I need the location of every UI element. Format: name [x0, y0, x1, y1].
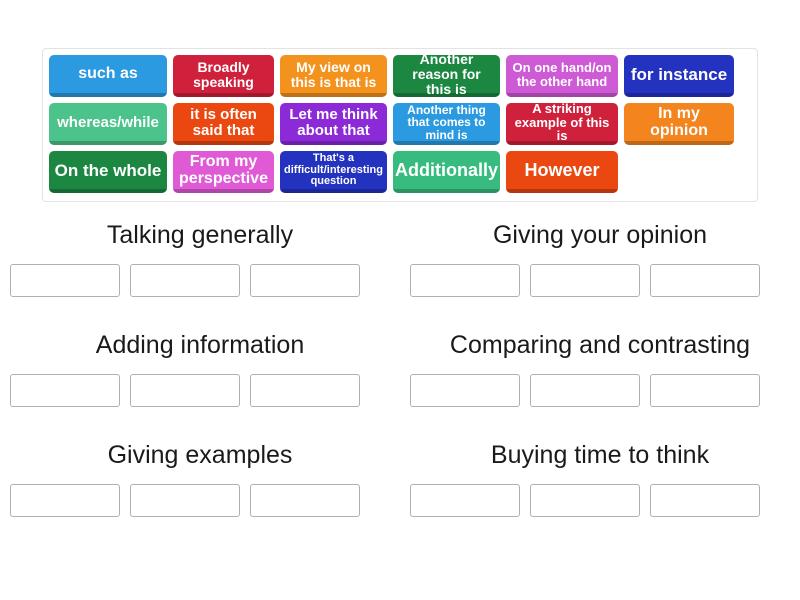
tile-label: That's a difficult/interesting question	[284, 153, 383, 188]
drop-slot[interactable]	[410, 264, 520, 297]
tile-label: On the whole	[55, 162, 162, 180]
draggable-tile[interactable]: Let me think about that	[280, 103, 387, 145]
category-slot-list	[10, 264, 390, 297]
drop-slot[interactable]	[530, 374, 640, 407]
tile-label: whereas/while	[57, 115, 159, 131]
category-title: Buying time to think	[410, 442, 790, 470]
category-group: Comparing and contrasting	[410, 332, 790, 442]
tile-label: Broadly speaking	[178, 60, 269, 89]
drop-slot[interactable]	[650, 264, 760, 297]
category-group: Adding information	[10, 332, 390, 442]
tile-label: Another thing that comes to mind is	[398, 104, 495, 142]
tile-row: such asBroadly speakingMy view on this i…	[49, 55, 751, 101]
draggable-tile[interactable]: That's a difficult/interesting question	[280, 151, 387, 193]
drop-slot[interactable]	[130, 264, 240, 297]
tile-label: My view on this is that is	[285, 60, 382, 89]
category-group: Buying time to think	[410, 442, 790, 552]
drop-slot[interactable]	[650, 484, 760, 517]
category-row: Adding informationComparing and contrast…	[0, 332, 800, 442]
draggable-tile[interactable]: Another thing that comes to mind is	[393, 103, 500, 145]
tile-bank: such asBroadly speakingMy view on this i…	[42, 48, 758, 202]
tile-label: Let me think about that	[285, 107, 382, 139]
category-group: Talking generally	[10, 222, 390, 332]
tile-label: it is often said that	[178, 107, 269, 139]
tile-label: On one hand/on the other hand	[511, 61, 613, 88]
drop-slot[interactable]	[10, 484, 120, 517]
drop-slot[interactable]	[10, 264, 120, 297]
category-area: Talking generallyGiving your opinionAddi…	[0, 222, 800, 552]
draggable-tile[interactable]: However	[506, 151, 618, 193]
drop-slot[interactable]	[250, 484, 360, 517]
drop-slot[interactable]	[530, 484, 640, 517]
category-title: Talking generally	[10, 222, 390, 250]
category-slot-list	[410, 264, 790, 297]
category-slot-list	[410, 374, 790, 407]
tile-row: On the wholeFrom my perspectiveThat's a …	[49, 151, 751, 197]
draggable-tile[interactable]: In my opinion	[624, 103, 734, 145]
category-title: Adding information	[10, 332, 390, 360]
draggable-tile[interactable]: Broadly speaking	[173, 55, 274, 97]
category-slot-list	[10, 374, 390, 407]
draggable-tile[interactable]: On one hand/on the other hand	[506, 55, 618, 97]
draggable-tile[interactable]: such as	[49, 55, 167, 97]
category-title: Giving your opinion	[410, 222, 790, 250]
tile-label: for instance	[631, 66, 727, 84]
draggable-tile[interactable]: Additionally	[393, 151, 500, 193]
tile-label: In my opinion	[629, 106, 729, 140]
category-group: Giving your opinion	[410, 222, 790, 332]
draggable-tile[interactable]: From my perspective	[173, 151, 274, 193]
category-row: Talking generallyGiving your opinion	[0, 222, 800, 332]
drop-slot[interactable]	[410, 484, 520, 517]
tile-label: Another reason for this is	[398, 55, 495, 97]
draggable-tile[interactable]: it is often said that	[173, 103, 274, 145]
category-title: Comparing and contrasting	[410, 332, 790, 360]
drop-slot[interactable]	[130, 484, 240, 517]
draggable-tile[interactable]: My view on this is that is	[280, 55, 387, 97]
draggable-tile[interactable]: Another reason for this is	[393, 55, 500, 97]
draggable-tile[interactable]: whereas/while	[49, 103, 167, 145]
tile-label: However	[524, 161, 599, 180]
category-group: Giving examples	[10, 442, 390, 552]
drop-slot[interactable]	[10, 374, 120, 407]
tile-row: whereas/whileit is often said thatLet me…	[49, 103, 751, 149]
category-title: Giving examples	[10, 442, 390, 470]
category-slot-list	[410, 484, 790, 517]
draggable-tile[interactable]: A striking example of this is	[506, 103, 618, 145]
drop-slot[interactable]	[130, 374, 240, 407]
draggable-tile[interactable]: On the whole	[49, 151, 167, 193]
tile-label: A striking example of this is	[511, 103, 613, 143]
drop-slot[interactable]	[530, 264, 640, 297]
tile-label: From my perspective	[178, 154, 269, 188]
drop-slot[interactable]	[410, 374, 520, 407]
tile-label: Additionally	[395, 161, 498, 180]
category-slot-list	[10, 484, 390, 517]
tile-label: such as	[78, 66, 138, 83]
category-row: Giving examplesBuying time to think	[0, 442, 800, 552]
drop-slot[interactable]	[250, 374, 360, 407]
drop-slot[interactable]	[250, 264, 360, 297]
drop-slot[interactable]	[650, 374, 760, 407]
draggable-tile[interactable]: for instance	[624, 55, 734, 97]
